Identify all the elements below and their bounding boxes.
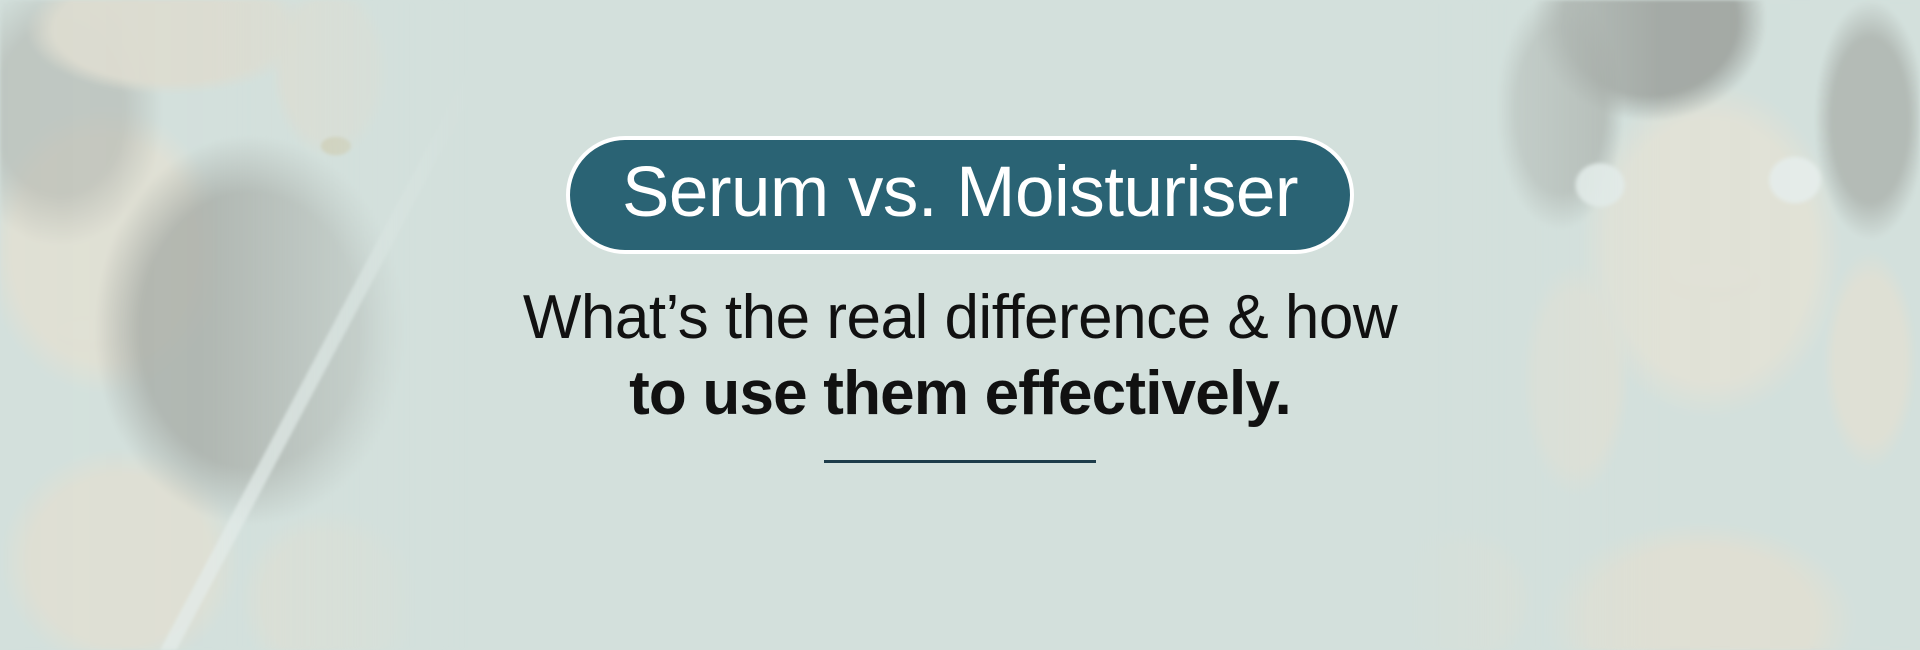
banner-content: Serum vs. Moisturiser What’s the real di… xyxy=(0,0,1920,650)
subtitle-line-1: What’s the real difference & how xyxy=(523,282,1397,354)
title-badge: Serum vs. Moisturiser xyxy=(566,136,1354,254)
subtitle-block: What’s the real difference & how to use … xyxy=(523,282,1397,430)
subtitle-line-2: to use them effectively. xyxy=(523,358,1397,430)
title-badge-label: Serum vs. Moisturiser xyxy=(622,157,1298,228)
decorative-divider xyxy=(824,460,1096,463)
promo-banner: Serum vs. Moisturiser What’s the real di… xyxy=(0,0,1920,650)
